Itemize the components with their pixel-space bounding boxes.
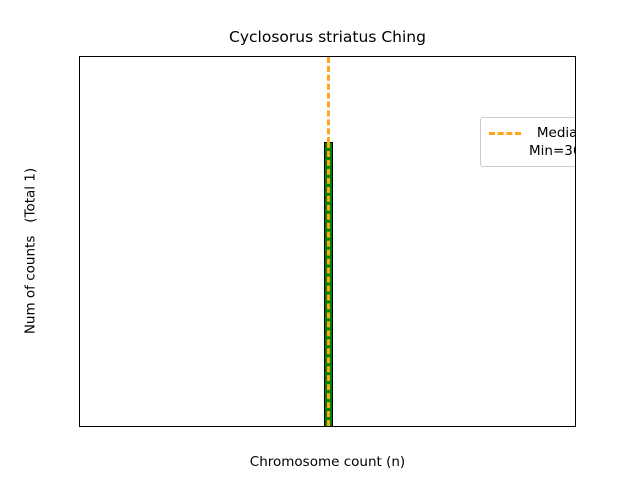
legend-minmax-label: Min=36, Max=36 [529, 142, 576, 160]
legend-dashed-line-icon [489, 124, 521, 142]
x-axis-label: Chromosome count (n) [79, 455, 576, 470]
y-axis-label: Num of counts (Total 1) [21, 66, 41, 437]
x-tick-mark [328, 426, 329, 427]
legend-box[interactable]: Median(n)=36.0 Min=36, Max=36 [480, 117, 576, 167]
legend-median-label: Median(n)=36.0 [537, 124, 576, 142]
plot-area: 1 0 36 Median(n)=36.0 Min=36, Max=36 [79, 56, 576, 427]
median-dashed-line-overlay [327, 142, 330, 426]
figure-canvas: Cyclosorus striatus Ching 1 0 36 Median(… [0, 0, 640, 480]
y-tick-mark [79, 144, 80, 145]
chart-title: Cyclosorus striatus Ching [79, 28, 576, 46]
legend-text-group: Median(n)=36.0 Min=36, Max=36 [529, 124, 576, 160]
